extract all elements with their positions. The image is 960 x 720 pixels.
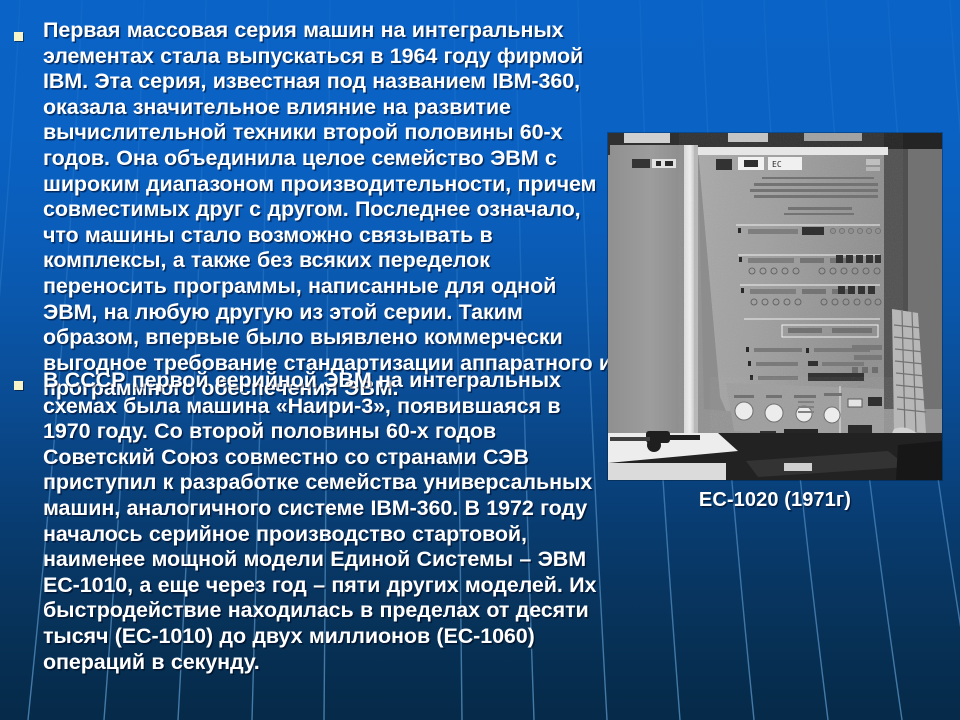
list-item: Первая массовая серия машин на интеграль… bbox=[14, 18, 614, 402]
bullet-paragraph-text: Первая массовая серия машин на интеграль… bbox=[43, 18, 614, 402]
computer-photo: EC bbox=[608, 133, 942, 480]
photo-caption: ЕС-1020 (1971г) bbox=[608, 489, 942, 512]
square-bullet-icon bbox=[14, 32, 23, 41]
slide-content: Первая массовая серия машин на интеграль… bbox=[0, 0, 960, 720]
square-bullet-icon bbox=[14, 381, 23, 390]
list-item: В СССР первой серийной ЭВМ на интегральн… bbox=[14, 368, 614, 675]
bullet-paragraph-text: В СССР первой серийной ЭВМ на интегральн… bbox=[43, 368, 614, 675]
presentation-slide: Первая массовая серия машин на интеграль… bbox=[0, 0, 960, 720]
